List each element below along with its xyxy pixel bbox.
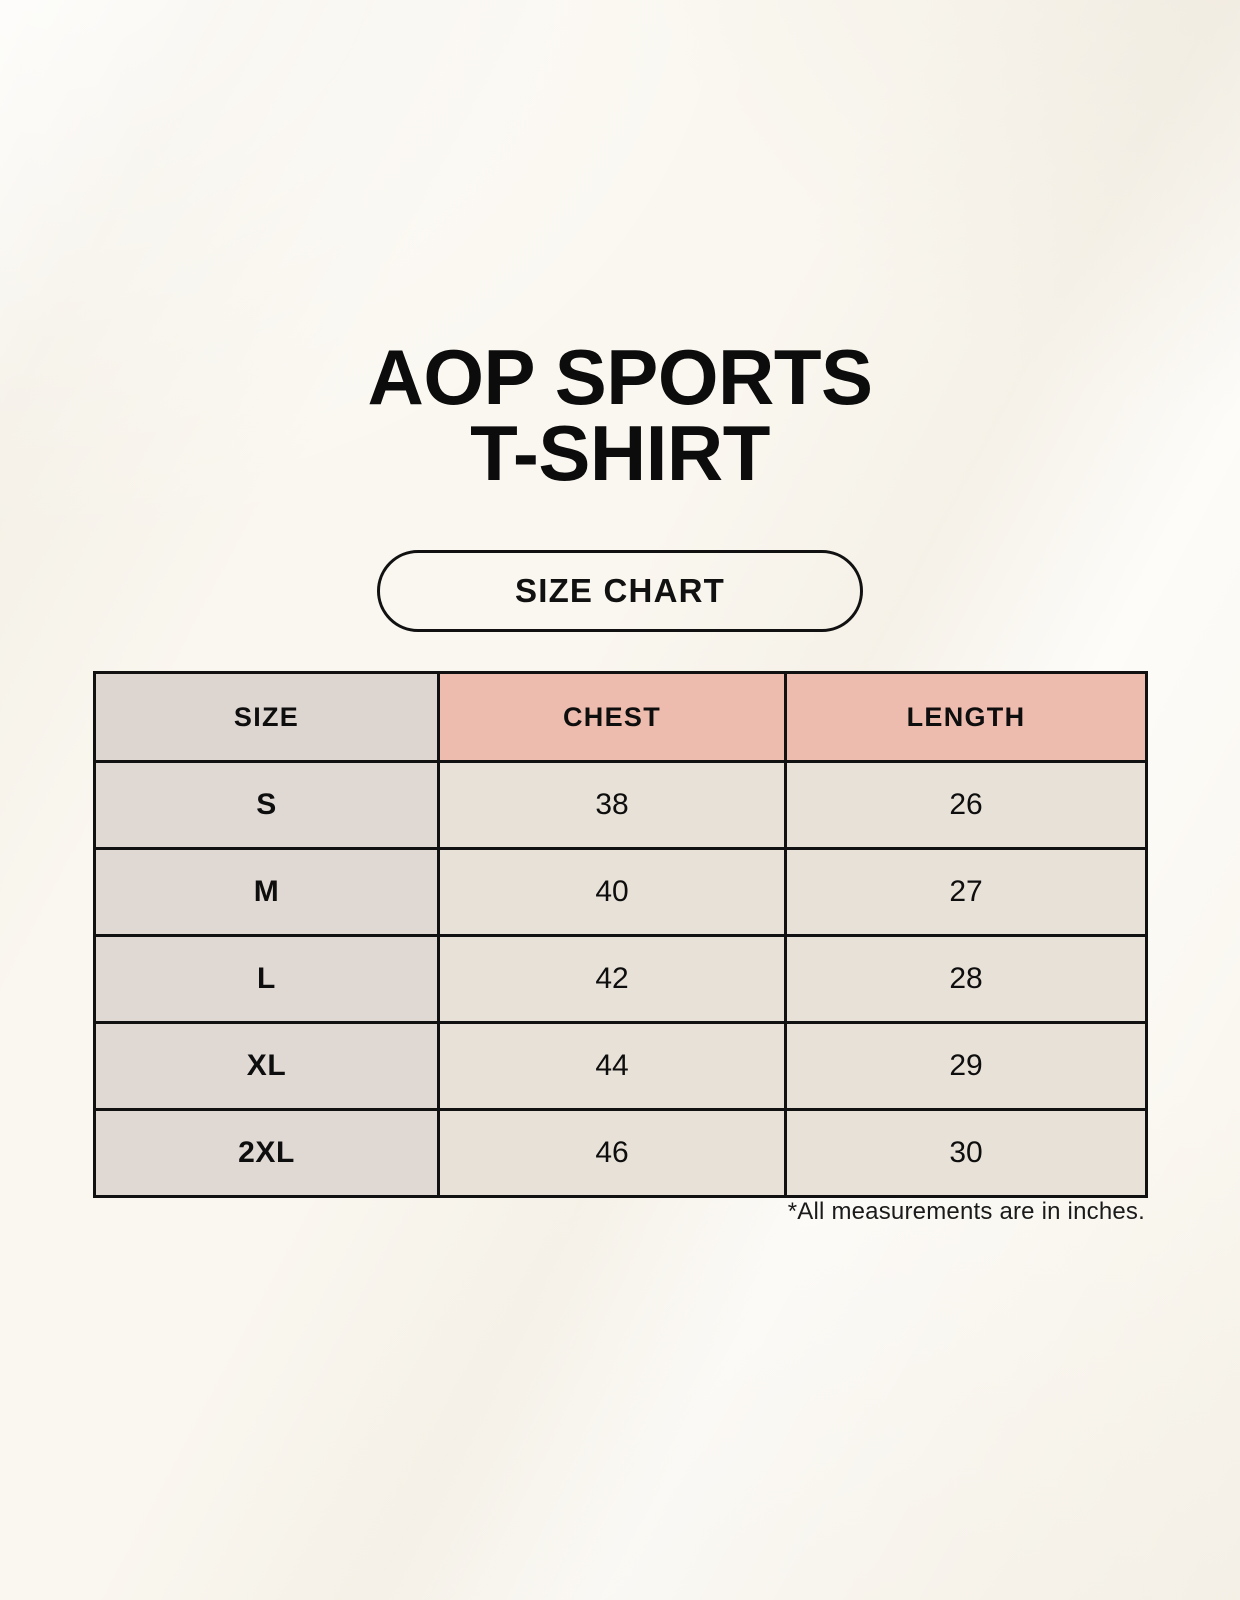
cell-length: 26 <box>786 762 1147 849</box>
cell-chest: 40 <box>439 849 786 936</box>
size-chart-badge: SIZE CHART <box>377 550 863 632</box>
table-row: M 40 27 <box>95 849 1147 936</box>
size-table: SIZE CHEST LENGTH S 38 26 M 40 27 <box>93 671 1148 1198</box>
table-row: 2XL 46 30 <box>95 1110 1147 1197</box>
cell-size: M <box>95 849 439 936</box>
size-table-head: SIZE CHEST LENGTH <box>95 673 1147 762</box>
size-chart-page: AOP SPORTS T-SHIRT SIZE CHART SIZE CHEST… <box>0 0 1240 1600</box>
column-header-chest: CHEST <box>439 673 786 762</box>
cell-size: S <box>95 762 439 849</box>
column-header-size: SIZE <box>95 673 439 762</box>
table-row: L 42 28 <box>95 936 1147 1023</box>
cell-length: 27 <box>786 849 1147 936</box>
cell-length: 29 <box>786 1023 1147 1110</box>
cell-length: 30 <box>786 1110 1147 1197</box>
cell-length: 28 <box>786 936 1147 1023</box>
page-title: AOP SPORTS T-SHIRT <box>0 340 1240 491</box>
table-row: XL 44 29 <box>95 1023 1147 1110</box>
cell-chest: 44 <box>439 1023 786 1110</box>
cell-chest: 46 <box>439 1110 786 1197</box>
cell-size: L <box>95 936 439 1023</box>
cell-chest: 38 <box>439 762 786 849</box>
cell-size: 2XL <box>95 1110 439 1197</box>
table-header-row: SIZE CHEST LENGTH <box>95 673 1147 762</box>
size-table-body: S 38 26 M 40 27 L 42 28 XL <box>95 762 1147 1197</box>
cell-chest: 42 <box>439 936 786 1023</box>
cell-size: XL <box>95 1023 439 1110</box>
table-row: S 38 26 <box>95 762 1147 849</box>
size-chart-badge-row: SIZE CHART <box>0 550 1240 632</box>
column-header-length: LENGTH <box>786 673 1147 762</box>
measurement-footnote: *All measurements are in inches. <box>93 1198 1145 1226</box>
size-table-container: SIZE CHEST LENGTH S 38 26 M 40 27 <box>93 671 1145 1198</box>
